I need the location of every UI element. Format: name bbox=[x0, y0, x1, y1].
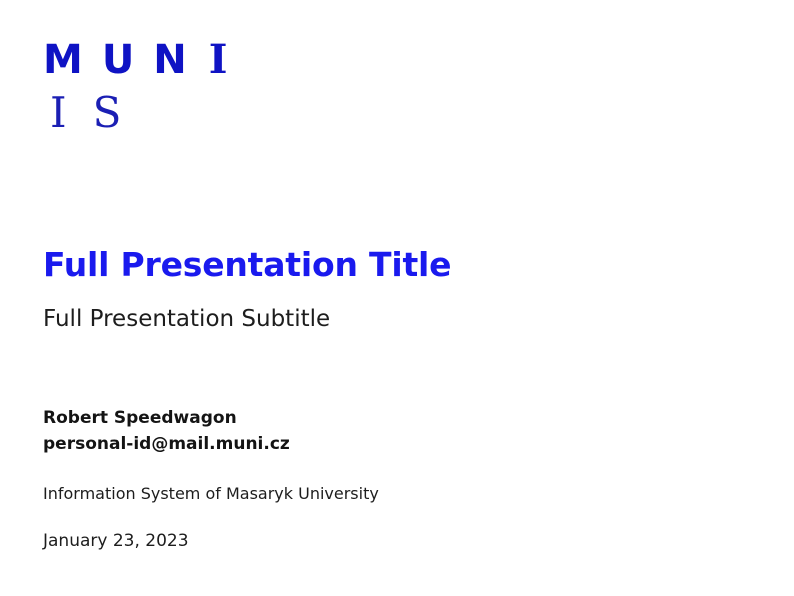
affiliation-line: Information System of Masaryk University bbox=[43, 484, 379, 505]
presentation-title-slide: M U N I I S Full Presentation Title Full… bbox=[0, 0, 794, 596]
logo-letter-i: I bbox=[209, 40, 228, 80]
author-email: personal-id@mail.muni.cz bbox=[43, 432, 290, 458]
logo-letter-u: U bbox=[102, 40, 134, 80]
logo-letter-m: M bbox=[43, 40, 83, 80]
author-block: Robert Speedwagon personal-id@mail.muni.… bbox=[43, 406, 290, 457]
logo-wordmark-muni: M U N I bbox=[43, 36, 283, 80]
logo-letter-is-s: S bbox=[93, 92, 122, 134]
presentation-title: Full Presentation Title bbox=[43, 246, 451, 284]
author-name: Robert Speedwagon bbox=[43, 406, 290, 432]
muni-is-logo: M U N I I S bbox=[43, 36, 283, 134]
logo-wordmark-is: I S bbox=[43, 88, 283, 134]
presentation-date: January 23, 2023 bbox=[43, 530, 189, 552]
logo-letter-is-i: I bbox=[50, 92, 67, 134]
logo-letter-n: N bbox=[153, 40, 186, 80]
presentation-subtitle: Full Presentation Subtitle bbox=[43, 306, 330, 334]
